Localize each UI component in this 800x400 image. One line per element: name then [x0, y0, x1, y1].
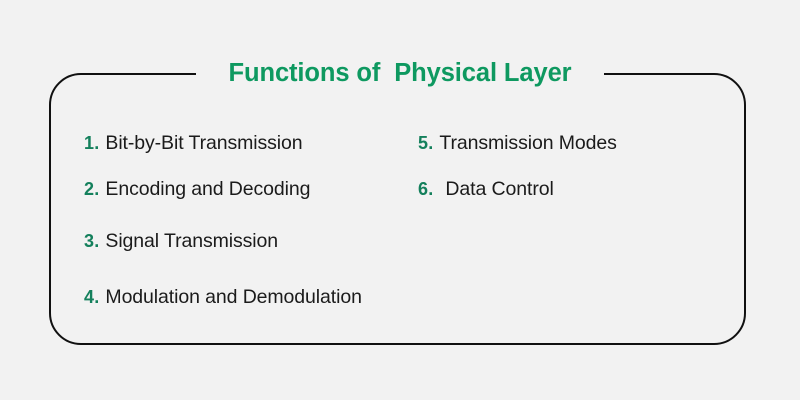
list-item-label: Encoding and Decoding — [105, 178, 310, 200]
list-item-label: Data Control — [445, 178, 553, 200]
list-item: 2.Encoding and Decoding — [84, 177, 310, 202]
list-item-number: 1. — [84, 133, 99, 153]
list-item-number: 3. — [84, 231, 99, 251]
page-title: Functions of Physical Layer — [0, 58, 800, 88]
list-item: 6.Data Control — [418, 177, 554, 202]
list-item: 1.Bit-by-Bit Transmission — [84, 131, 303, 156]
list-item: 3.Signal Transmission — [84, 229, 278, 254]
list-item-label: Transmission Modes — [439, 132, 616, 154]
list-item-label: Signal Transmission — [105, 230, 278, 252]
list-item: 5.Transmission Modes — [418, 131, 617, 156]
list-item-number: 2. — [84, 179, 99, 199]
list-item-label: Bit-by-Bit Transmission — [105, 132, 302, 154]
list-item-number: 4. — [84, 287, 99, 307]
list-item-label: Modulation and Demodulation — [105, 286, 361, 308]
list-item-number: 6. — [418, 179, 433, 199]
list-item: 4.Modulation and Demodulation — [84, 285, 362, 310]
list-item-number: 5. — [418, 133, 433, 153]
